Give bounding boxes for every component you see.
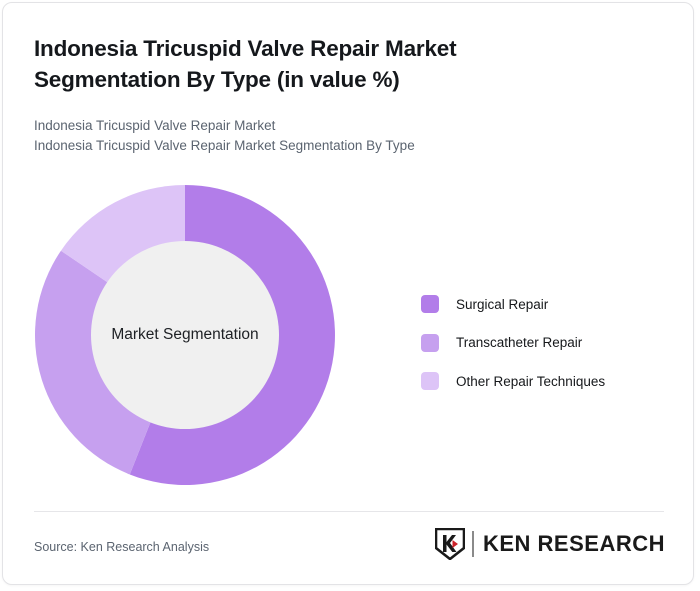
legend-item[interactable]: Transcatheter Repair <box>421 324 671 363</box>
legend-label: Other Repair Techniques <box>456 374 605 389</box>
donut-hole <box>91 241 279 429</box>
legend-label: Transcatheter Repair <box>456 335 582 350</box>
donut-chart: Market Segmentation <box>25 175 345 495</box>
ken-research-logo: KEN RESEARCH <box>435 527 665 561</box>
chart-card: Indonesia Tricuspid Valve Repair Market … <box>2 2 694 585</box>
subtitle-line-1: Indonesia Tricuspid Valve Repair Market <box>34 116 594 136</box>
source-note: Source: Ken Research Analysis <box>34 540 209 554</box>
legend-label: Surgical Repair <box>456 297 548 312</box>
legend-item[interactable]: Surgical Repair <box>421 285 671 324</box>
subtitle-line-2: Indonesia Tricuspid Valve Repair Market … <box>34 136 594 156</box>
donut-svg <box>25 175 345 495</box>
logo-wordmark: KEN RESEARCH <box>483 531 665 557</box>
footer-divider <box>34 511 664 512</box>
chart-legend: Surgical RepairTranscatheter RepairOther… <box>421 285 671 401</box>
logo-separator <box>472 531 474 557</box>
legend-swatch <box>421 295 439 313</box>
legend-item[interactable]: Other Repair Techniques <box>421 362 671 401</box>
page-title: Indonesia Tricuspid Valve Repair Market … <box>34 33 554 95</box>
ken-research-shield-icon <box>435 528 465 560</box>
legend-swatch <box>421 334 439 352</box>
legend-swatch <box>421 372 439 390</box>
chart-subtitle: Indonesia Tricuspid Valve Repair Market … <box>34 116 594 156</box>
